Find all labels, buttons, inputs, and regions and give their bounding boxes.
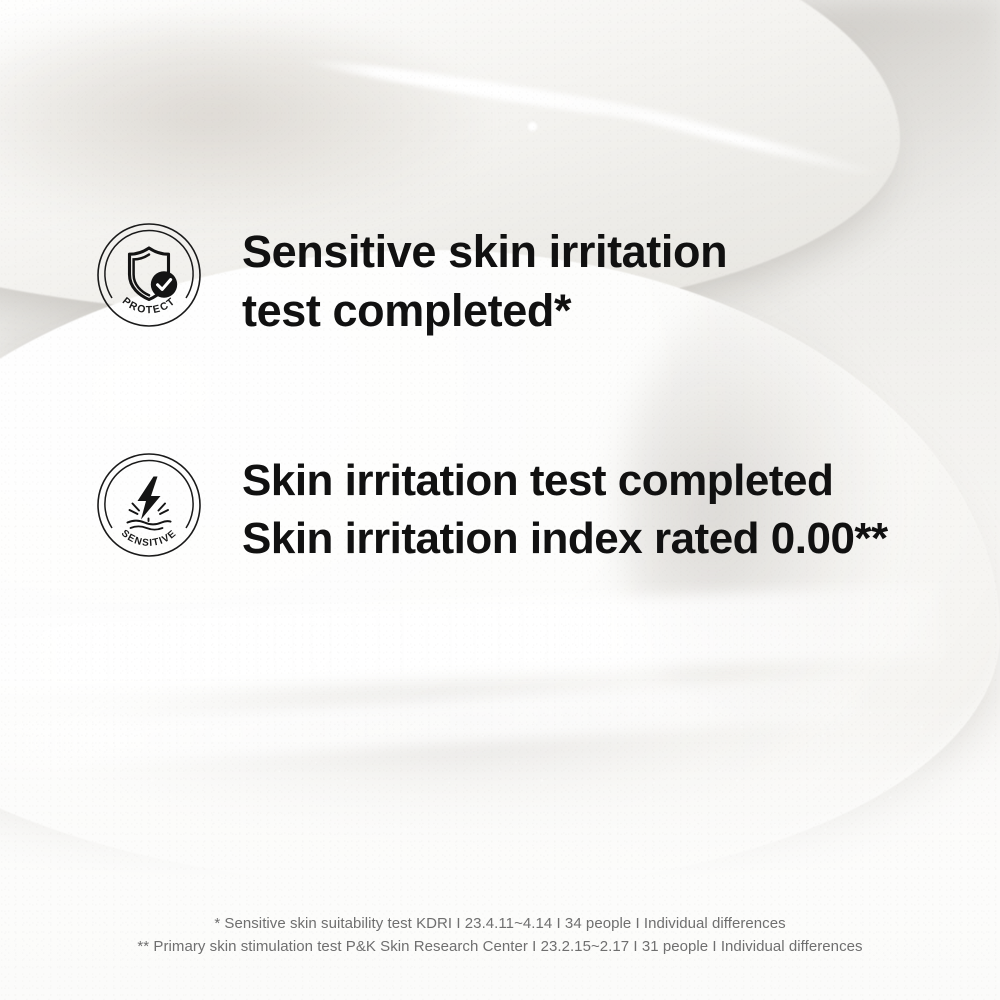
content-overlay: PROTECT Sensitive skin irritation test c… (0, 0, 1000, 1000)
feature-headline-protect: Sensitive skin irritation test completed… (242, 222, 727, 340)
footnotes: * Sensitive skin suitability test KDRI I… (0, 912, 1000, 958)
product-marketing-image: PROTECT Sensitive skin irritation test c… (0, 0, 1000, 1000)
headline-line: test completed* (242, 281, 727, 340)
headline-line: Skin irritation index rated 0.00** (242, 510, 888, 568)
lightning-bolt-skin-icon: SENSITIVE (96, 452, 202, 558)
badge-sensitive: SENSITIVE (96, 452, 202, 558)
footnote-double-asterisk: ** Primary skin stimulation test P&K Ski… (0, 935, 1000, 958)
shield-check-icon: PROTECT (96, 222, 202, 328)
headline-line: Skin irritation test completed (242, 452, 888, 510)
badge-protect: PROTECT (96, 222, 202, 328)
feature-headline-sensitive: Skin irritation test completed Skin irri… (242, 452, 888, 568)
feature-block-sensitive: SENSITIVE Skin irritation test completed… (96, 452, 888, 568)
svg-text:SENSITIVE: SENSITIVE (119, 528, 179, 549)
headline-line: Sensitive skin irritation (242, 222, 727, 281)
feature-block-protect: PROTECT Sensitive skin irritation test c… (96, 222, 727, 340)
footnote-single-asterisk: * Sensitive skin suitability test KDRI I… (0, 912, 1000, 935)
